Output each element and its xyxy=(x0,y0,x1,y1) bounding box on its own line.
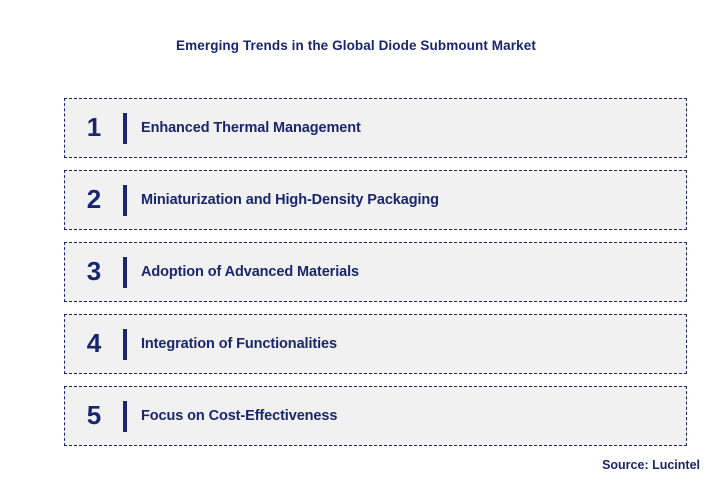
trend-row: 2 Miniaturization and High-Density Packa… xyxy=(64,170,687,230)
trend-row: 5 Focus on Cost-Effectiveness xyxy=(64,386,687,446)
trend-label: Adoption of Advanced Materials xyxy=(127,264,686,280)
trend-row: 4 Integration of Functionalities xyxy=(64,314,687,374)
trend-number: 2 xyxy=(65,186,123,214)
trend-label: Integration of Functionalities xyxy=(127,336,686,352)
trend-row: 3 Adoption of Advanced Materials xyxy=(64,242,687,302)
trend-number: 5 xyxy=(65,402,123,430)
trend-label: Focus on Cost-Effectiveness xyxy=(127,408,686,424)
trend-label: Enhanced Thermal Management xyxy=(127,120,686,136)
trend-list: 1 Enhanced Thermal Management 2 Miniatur… xyxy=(64,98,687,446)
trend-number: 1 xyxy=(65,114,123,142)
trend-number: 4 xyxy=(65,330,123,358)
page-title: Emerging Trends in the Global Diode Subm… xyxy=(0,38,712,53)
trend-label: Miniaturization and High-Density Packagi… xyxy=(127,192,686,208)
source-attribution: Source: Lucintel xyxy=(602,458,700,472)
trend-number: 3 xyxy=(65,258,123,286)
infographic-container: Emerging Trends in the Global Diode Subm… xyxy=(0,0,712,501)
trend-row: 1 Enhanced Thermal Management xyxy=(64,98,687,158)
